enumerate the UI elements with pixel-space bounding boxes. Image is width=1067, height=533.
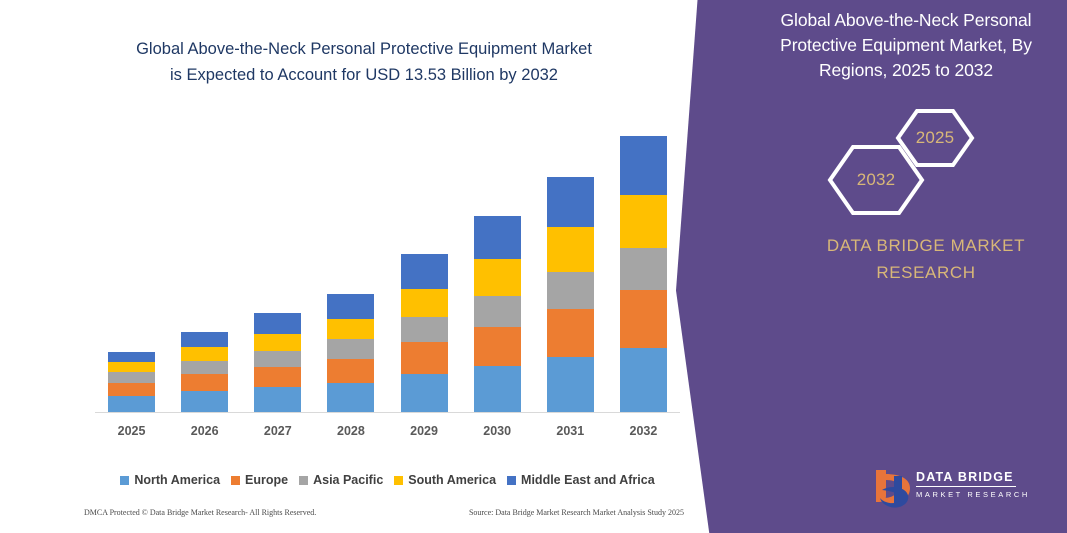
bar-column (388, 120, 461, 412)
bar-segment (620, 348, 667, 412)
legend-swatch (120, 476, 129, 485)
legend-label: Middle East and Africa (521, 473, 655, 487)
bar-segment (254, 351, 301, 367)
bar-column (534, 120, 607, 412)
footer: DMCA Protected © Data Bridge Market Rese… (84, 508, 684, 517)
bar-segment (108, 372, 155, 383)
bar-segment (547, 309, 594, 357)
chart-title-line-1: Global Above-the-Neck Personal Protectiv… (64, 36, 664, 62)
stacked-bar (327, 294, 374, 412)
legend-item[interactable]: Europe (231, 473, 288, 487)
bar-segment (474, 216, 521, 259)
bar-segment (108, 383, 155, 396)
bar-segment (620, 136, 667, 195)
bar-segment (254, 313, 301, 334)
legend-label: Asia Pacific (313, 473, 383, 487)
bar-segment (401, 342, 448, 374)
bar-segment (108, 396, 155, 412)
bar-segment (181, 391, 228, 412)
infographic-page: Global Above-the-Neck Personal Protectiv… (0, 0, 1067, 533)
bar-segment (327, 319, 374, 339)
x-axis-label: 2029 (388, 424, 461, 438)
legend-item[interactable]: South America (394, 473, 496, 487)
logo-wordmark: DATA BRIDGE MARKET RESEARCH (916, 470, 1030, 499)
x-axis-label: 2025 (95, 424, 168, 438)
bar-segment (474, 296, 521, 327)
bar-segment (474, 259, 521, 296)
bar-group (95, 120, 680, 412)
bar-column (461, 120, 534, 412)
x-axis-label: 2031 (534, 424, 607, 438)
bar-segment (620, 248, 667, 290)
logo-name: DATA BRIDGE (916, 470, 1030, 484)
bar-segment (327, 294, 374, 319)
stacked-bar (474, 216, 521, 412)
footer-copyright: DMCA Protected © Data Bridge Market Rese… (84, 508, 316, 517)
bar-segment (474, 327, 521, 366)
bar-segment (327, 339, 374, 359)
logo-subtitle: MARKET RESEARCH (916, 490, 1030, 499)
bar-segment (254, 387, 301, 412)
x-axis-label: 2032 (607, 424, 680, 438)
legend-label: Europe (245, 473, 288, 487)
brand-line-1: DATA BRIDGE MARKET (786, 232, 1066, 259)
legend-swatch (231, 476, 240, 485)
legend-item[interactable]: North America (120, 473, 220, 487)
chart-legend: North AmericaEuropeAsia PacificSouth Ame… (95, 473, 680, 487)
bar-column (241, 120, 314, 412)
bar-segment (401, 254, 448, 289)
stacked-bar (254, 313, 301, 412)
bar-column (314, 120, 387, 412)
stacked-bar (181, 332, 228, 412)
bar-segment (327, 383, 374, 412)
bar-segment (181, 374, 228, 391)
brand-line-2: RESEARCH (786, 259, 1066, 286)
bar-segment (401, 317, 448, 342)
x-axis-label: 2026 (168, 424, 241, 438)
bar-segment (181, 347, 228, 361)
x-axis-line (95, 412, 680, 413)
bar-segment (474, 366, 521, 412)
bar-segment (181, 332, 228, 347)
legend-swatch (299, 476, 308, 485)
legend-item[interactable]: Middle East and Africa (507, 473, 655, 487)
legend-label: North America (134, 473, 220, 487)
bar-column (168, 120, 241, 412)
stacked-bar-chart (95, 120, 680, 413)
chart-title: Global Above-the-Neck Personal Protectiv… (64, 36, 664, 88)
legend-label: South America (408, 473, 496, 487)
bar-segment (108, 352, 155, 362)
side-panel-title: Global Above-the-Neck Personal Protectiv… (756, 8, 1056, 83)
brand-name: DATA BRIDGE MARKET RESEARCH (786, 232, 1066, 286)
legend-item[interactable]: Asia Pacific (299, 473, 383, 487)
bar-column (607, 120, 680, 412)
bar-segment (181, 361, 228, 374)
bar-segment (108, 362, 155, 372)
bar-segment (327, 359, 374, 383)
bar-segment (620, 290, 667, 348)
logo-divider (916, 486, 1016, 487)
x-axis-label: 2030 (461, 424, 534, 438)
stacked-bar (401, 254, 448, 412)
bar-segment (254, 367, 301, 387)
bar-segment (547, 177, 594, 227)
bar-segment (547, 272, 594, 309)
legend-swatch (507, 476, 516, 485)
x-axis-labels: 20252026202720282029203020312032 (95, 424, 680, 438)
bar-segment (401, 374, 448, 412)
bar-segment (401, 289, 448, 317)
data-bridge-logo: DATA BRIDGE MARKET RESEARCH (872, 466, 1042, 512)
hexagon-2025-label: 2025 (916, 128, 955, 148)
bar-segment (620, 195, 667, 248)
hexagon-2025: 2025 (895, 108, 975, 168)
bar-column (95, 120, 168, 412)
footer-source: Source: Data Bridge Market Research Mark… (469, 508, 684, 517)
bar-segment (254, 334, 301, 351)
bar-segment (547, 227, 594, 272)
stacked-bar (620, 136, 667, 412)
stacked-bar (547, 177, 594, 412)
chart-title-line-2: is Expected to Account for USD 13.53 Bil… (64, 62, 664, 88)
bar-segment (547, 357, 594, 412)
x-axis-label: 2028 (314, 424, 387, 438)
stacked-bar (108, 352, 155, 412)
legend-swatch (394, 476, 403, 485)
db-monogram-icon (872, 466, 916, 510)
x-axis-label: 2027 (241, 424, 314, 438)
hexagon-2032-label: 2032 (857, 170, 896, 190)
